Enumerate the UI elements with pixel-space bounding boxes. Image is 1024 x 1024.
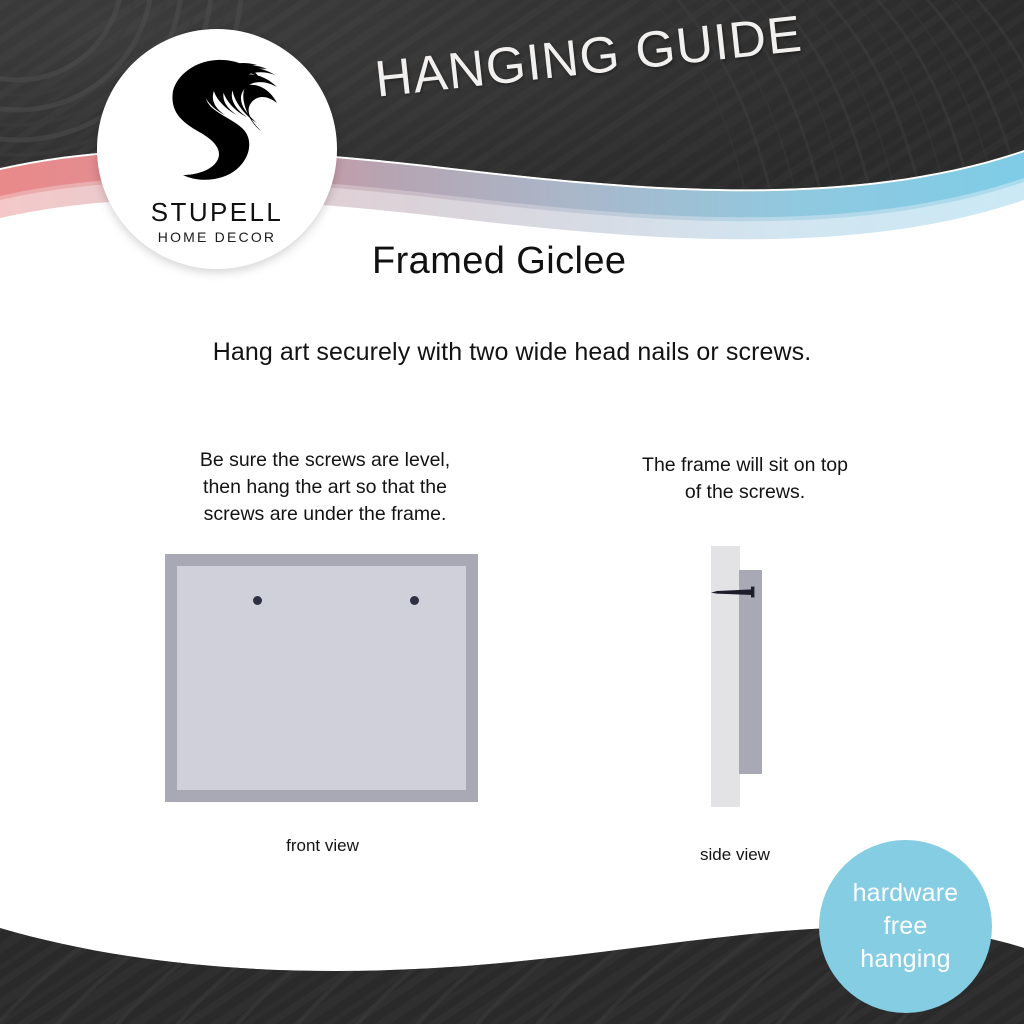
screw-dot-right — [410, 596, 419, 605]
product-name: Framed Giclee — [372, 240, 626, 283]
hanging-guide-page: STUPELL HOME DECOR HANGING GUIDE Framed … — [0, 0, 1024, 1024]
side-view-caption-line-2: of the screws. — [600, 479, 890, 506]
badge-line-2: free — [884, 910, 928, 943]
side-view-frame-diagram — [705, 540, 775, 815]
brand-wordmark: STUPELL HOME DECOR — [97, 199, 337, 249]
front-view-label: front view — [165, 836, 480, 856]
page-title: HANGING GUIDE — [372, 4, 805, 109]
front-view-caption: Be sure the screws are level, then hang … — [155, 447, 495, 528]
front-view-caption-line-1: Be sure the screws are level, — [155, 447, 495, 474]
side-view-frame-strip — [739, 570, 762, 774]
nail-icon — [711, 586, 757, 598]
front-view-caption-line-3: screws are under the frame. — [155, 501, 495, 528]
front-view-frame-mat — [177, 566, 466, 790]
side-view-label: side view — [655, 845, 815, 865]
badge-line-1: hardware — [853, 877, 959, 910]
brand-tagline: HOME DECOR — [97, 226, 337, 248]
badge-line-3: hanging — [860, 943, 950, 976]
brand-name: STUPELL — [97, 199, 337, 226]
hardware-free-hanging-badge: hardware free hanging — [819, 840, 992, 1013]
side-view-caption-line-1: The frame will sit on top — [600, 452, 890, 479]
brand-logo-badge: STUPELL HOME DECOR — [97, 29, 337, 269]
side-view-caption: The frame will sit on top of the screws. — [600, 452, 890, 506]
main-instruction-text: Hang art securely with two wide head nai… — [0, 338, 1024, 367]
stupell-swoosh-s-logo-icon — [155, 53, 279, 185]
front-view-frame-diagram — [165, 554, 478, 802]
screw-dot-left — [253, 596, 262, 605]
front-view-caption-line-2: then hang the art so that the — [155, 474, 495, 501]
